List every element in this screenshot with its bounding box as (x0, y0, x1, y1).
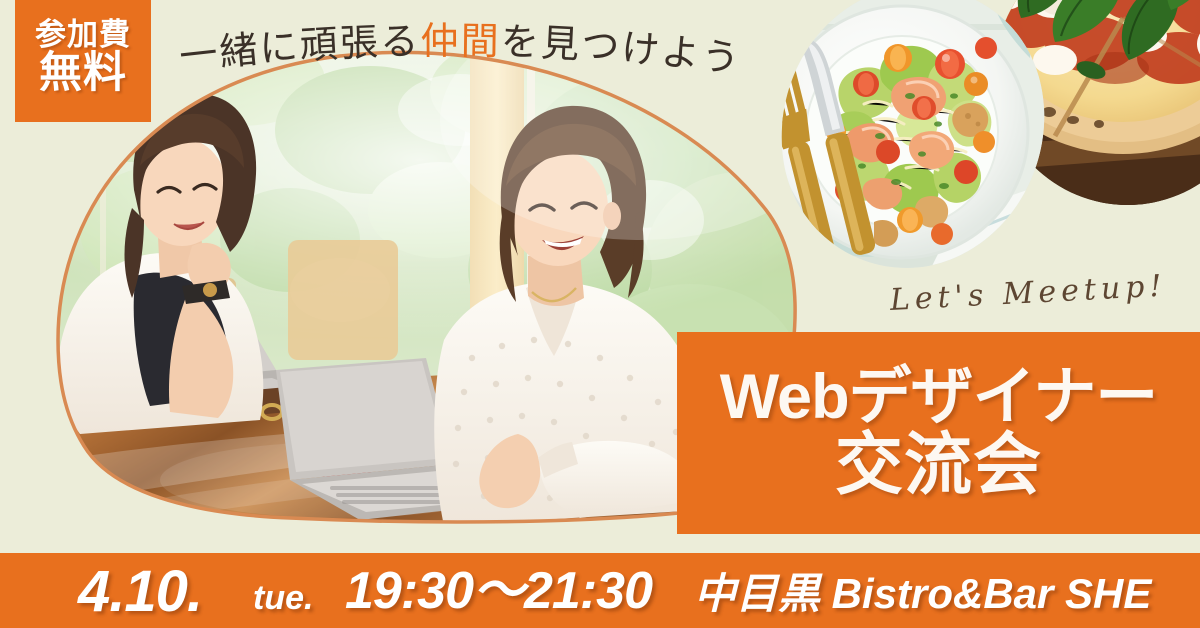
free-admission-badge: 参加費 無料 (15, 0, 151, 122)
badge-line-fee: 参加費 (35, 19, 131, 50)
event-date: 4.10. (78, 563, 202, 621)
photo-salmon-salad-plate (778, 0, 1050, 274)
tagline-accent: 仲間 (420, 21, 501, 64)
lets-meetup-script-label: Let's Meetup! (889, 269, 1167, 318)
tagline-text: 一緒に頑張る仲間を見つけよう (177, 21, 743, 82)
badge-line-free: 無料 (39, 52, 127, 95)
tagline-part1: 一緒に頑張る (177, 21, 420, 79)
event-title-panel: Webデザイナー 交流会 (677, 332, 1200, 534)
tagline-part2: を見つけよう (500, 21, 744, 81)
event-title-line1: Webデザイナー (720, 365, 1158, 429)
event-banner: 一緒に頑張る仲間を見つけよう 参加費 無料 Let's Meetup! Webデ… (0, 0, 1200, 628)
event-title-line2: 交流会 (835, 431, 1042, 500)
event-day-of-week: tue. (253, 581, 313, 615)
tagline: 一緒に頑張る仲間を見つけよう (175, 18, 755, 88)
event-venue: 中目黒 Bistro&Bar SHE (694, 573, 1151, 615)
event-time: 19:30〜21:30 (345, 565, 652, 617)
event-details-bar: 4.10. tue. 19:30〜21:30 中目黒 Bistro&Bar SH… (0, 553, 1200, 628)
